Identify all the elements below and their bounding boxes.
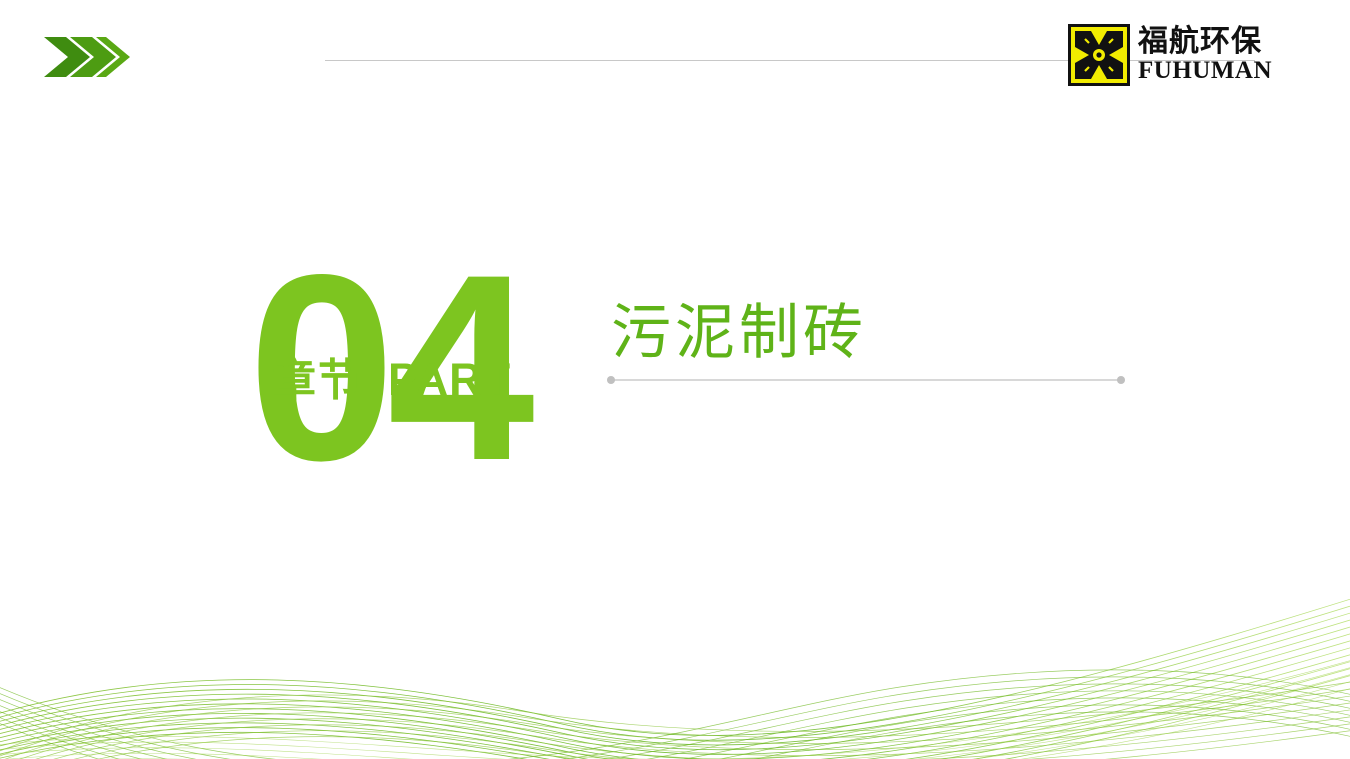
logo-name-en: FUHUMAN xyxy=(1138,58,1272,84)
page-title: 污泥制砖 xyxy=(611,284,867,371)
logo-mark-icon xyxy=(1068,24,1130,86)
section-label-cn: 章节 xyxy=(272,344,364,408)
title-divider xyxy=(607,373,1125,385)
logo-name-cn: 福航环保 xyxy=(1138,26,1272,58)
company-logo: 福航环保 FUHUMAN xyxy=(1068,24,1272,86)
slide: 福航环保 FUHUMAN 04 章节 PART 污泥制砖 xyxy=(0,0,1350,759)
bottom-wave-decoration xyxy=(0,559,1350,759)
section-label-en: PART xyxy=(388,354,511,406)
logo-wordmark: 福航环保 FUHUMAN xyxy=(1138,24,1272,86)
section-label-group: 章节 PART xyxy=(272,344,511,408)
double-chevron-icon xyxy=(44,33,130,81)
